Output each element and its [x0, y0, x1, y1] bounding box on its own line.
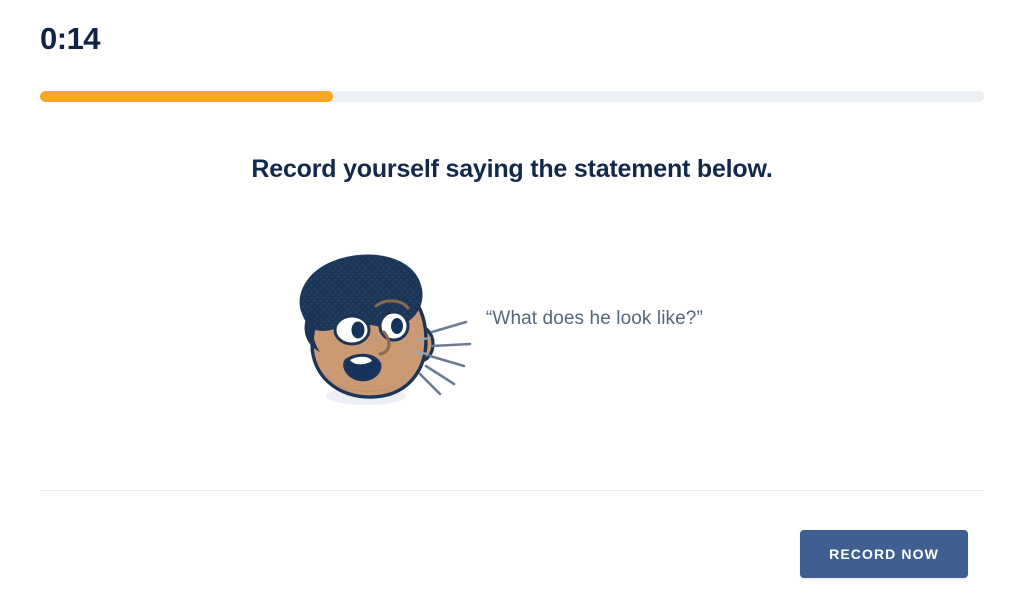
progress-bar-fill [40, 91, 333, 102]
statement-text: “What does he look like?” [486, 308, 703, 330]
countdown-timer: 0:14 [40, 23, 100, 54]
footer-bar: RECORD NOW [0, 520, 1024, 604]
recording-task-page: 0:14 Record yourself saying the statemen… [0, 0, 1024, 604]
progress-bar-track [40, 91, 984, 102]
page-title: Record yourself saying the statement bel… [0, 155, 1024, 184]
record-now-button[interactable]: RECORD NOW [800, 530, 968, 578]
speaking-person-head-icon [280, 248, 480, 428]
prompt-section: “What does he look like?” [0, 248, 1024, 438]
footer-divider [40, 490, 984, 491]
